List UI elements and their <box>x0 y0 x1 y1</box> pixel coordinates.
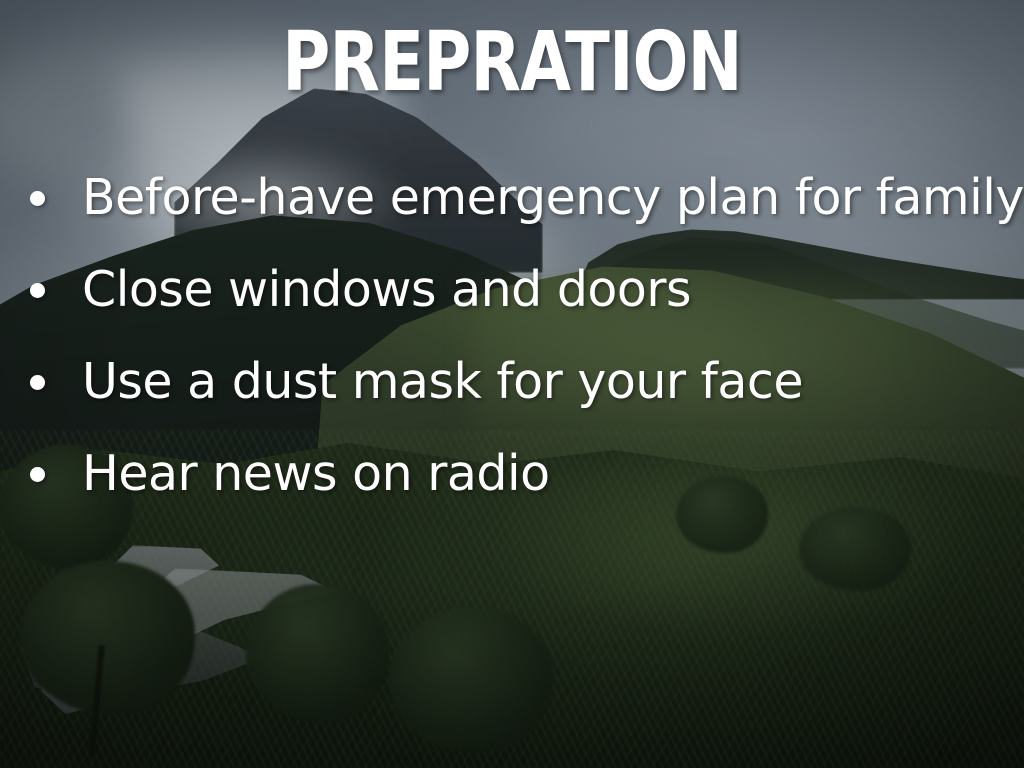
bullet-text-4: Hear news on radio <box>82 448 550 499</box>
bullet-text-3: Use a dust mask for your face <box>82 356 803 407</box>
bullet-list: Before-have emergency plan for family Cl… <box>20 152 1004 520</box>
bullet-item-3: Use a dust mask for your face <box>20 336 1004 428</box>
slide-content: PREPRATION Before-have emergency plan fo… <box>0 0 1024 768</box>
bullet-dot-icon <box>30 375 45 390</box>
bullet-text-2: Close windows and doors <box>82 264 691 315</box>
bullet-dot-icon <box>30 283 45 298</box>
bullet-text-1: Before-have emergency plan for family <box>82 172 1024 223</box>
presentation-slide: PREPRATION Before-have emergency plan fo… <box>0 0 1024 768</box>
slide-title: PREPRATION <box>102 22 921 104</box>
bullet-item-1: Before-have emergency plan for family <box>20 152 1004 244</box>
bullet-dot-icon <box>30 467 45 482</box>
bullet-item-2: Close windows and doors <box>20 244 1004 336</box>
bullet-dot-icon <box>30 191 45 206</box>
bullet-item-4: Hear news on radio <box>20 428 1004 520</box>
